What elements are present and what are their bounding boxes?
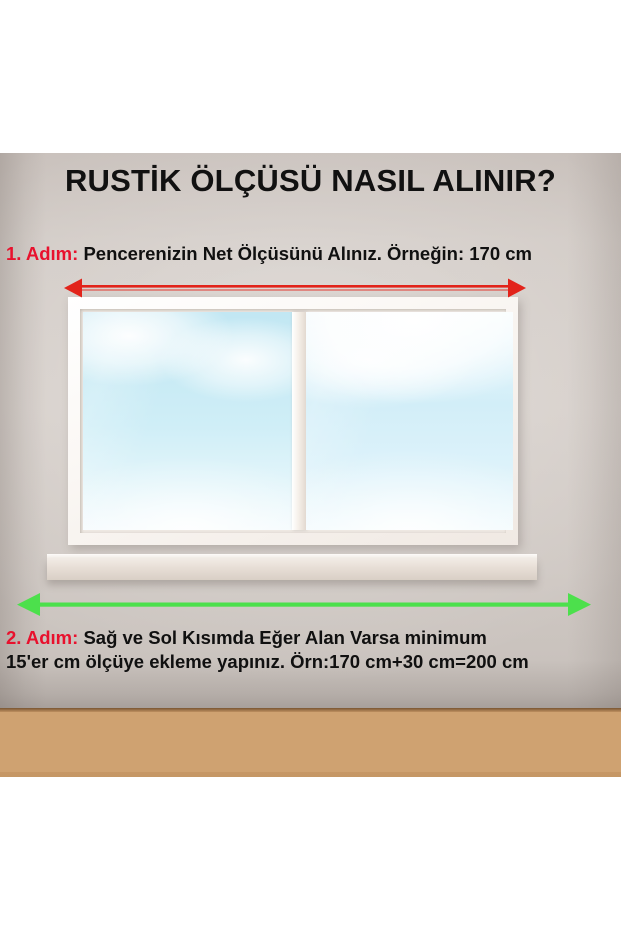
bottom-white-margin: [0, 777, 621, 931]
wall-shadow-left: [0, 153, 46, 708]
page-title: RUSTİK ÖLÇÜSÜ NASIL ALINIR?: [0, 163, 621, 199]
step-2-line-1: 2. Adım: Sağ ve Sol Kısımda Eğer Alan Va…: [6, 627, 487, 649]
glass-gloss: [306, 312, 409, 530]
window-mullion: [292, 312, 306, 530]
product-instruction-image: RUSTİK ÖLÇÜSÜ NASIL ALINIR? 1. Adım: Pen…: [0, 0, 621, 931]
top-white-margin: [0, 0, 621, 153]
wall-shadow-right: [567, 153, 621, 708]
window-pane-left: [83, 312, 292, 530]
window-pane-right: [306, 312, 513, 530]
window: [68, 297, 518, 545]
step-1-label: 1. Adım:: [6, 243, 78, 264]
net-width-arrow-icon: [60, 276, 530, 302]
window-sill: [47, 558, 537, 580]
floor-top-edge: [0, 708, 621, 712]
window-frame-inner: [80, 309, 506, 533]
glass-gloss: [83, 312, 186, 530]
step-1-line: 1. Adım: Pencerenizin Net Ölçüsünü Alını…: [6, 243, 532, 265]
wooden-floor: [0, 708, 621, 777]
step-2-label: 2. Adım:: [6, 627, 78, 648]
total-width-arrow-icon: [12, 590, 597, 620]
step-2-text-line1: Sağ ve Sol Kısımda Eğer Alan Varsa minim…: [83, 627, 486, 648]
step-1-text: Pencerenizin Net Ölçüsünü Alınız. Örneği…: [83, 243, 532, 264]
step-2-line-2: 15'er cm ölçüye ekleme yapınız. Örn:170 …: [6, 651, 529, 673]
